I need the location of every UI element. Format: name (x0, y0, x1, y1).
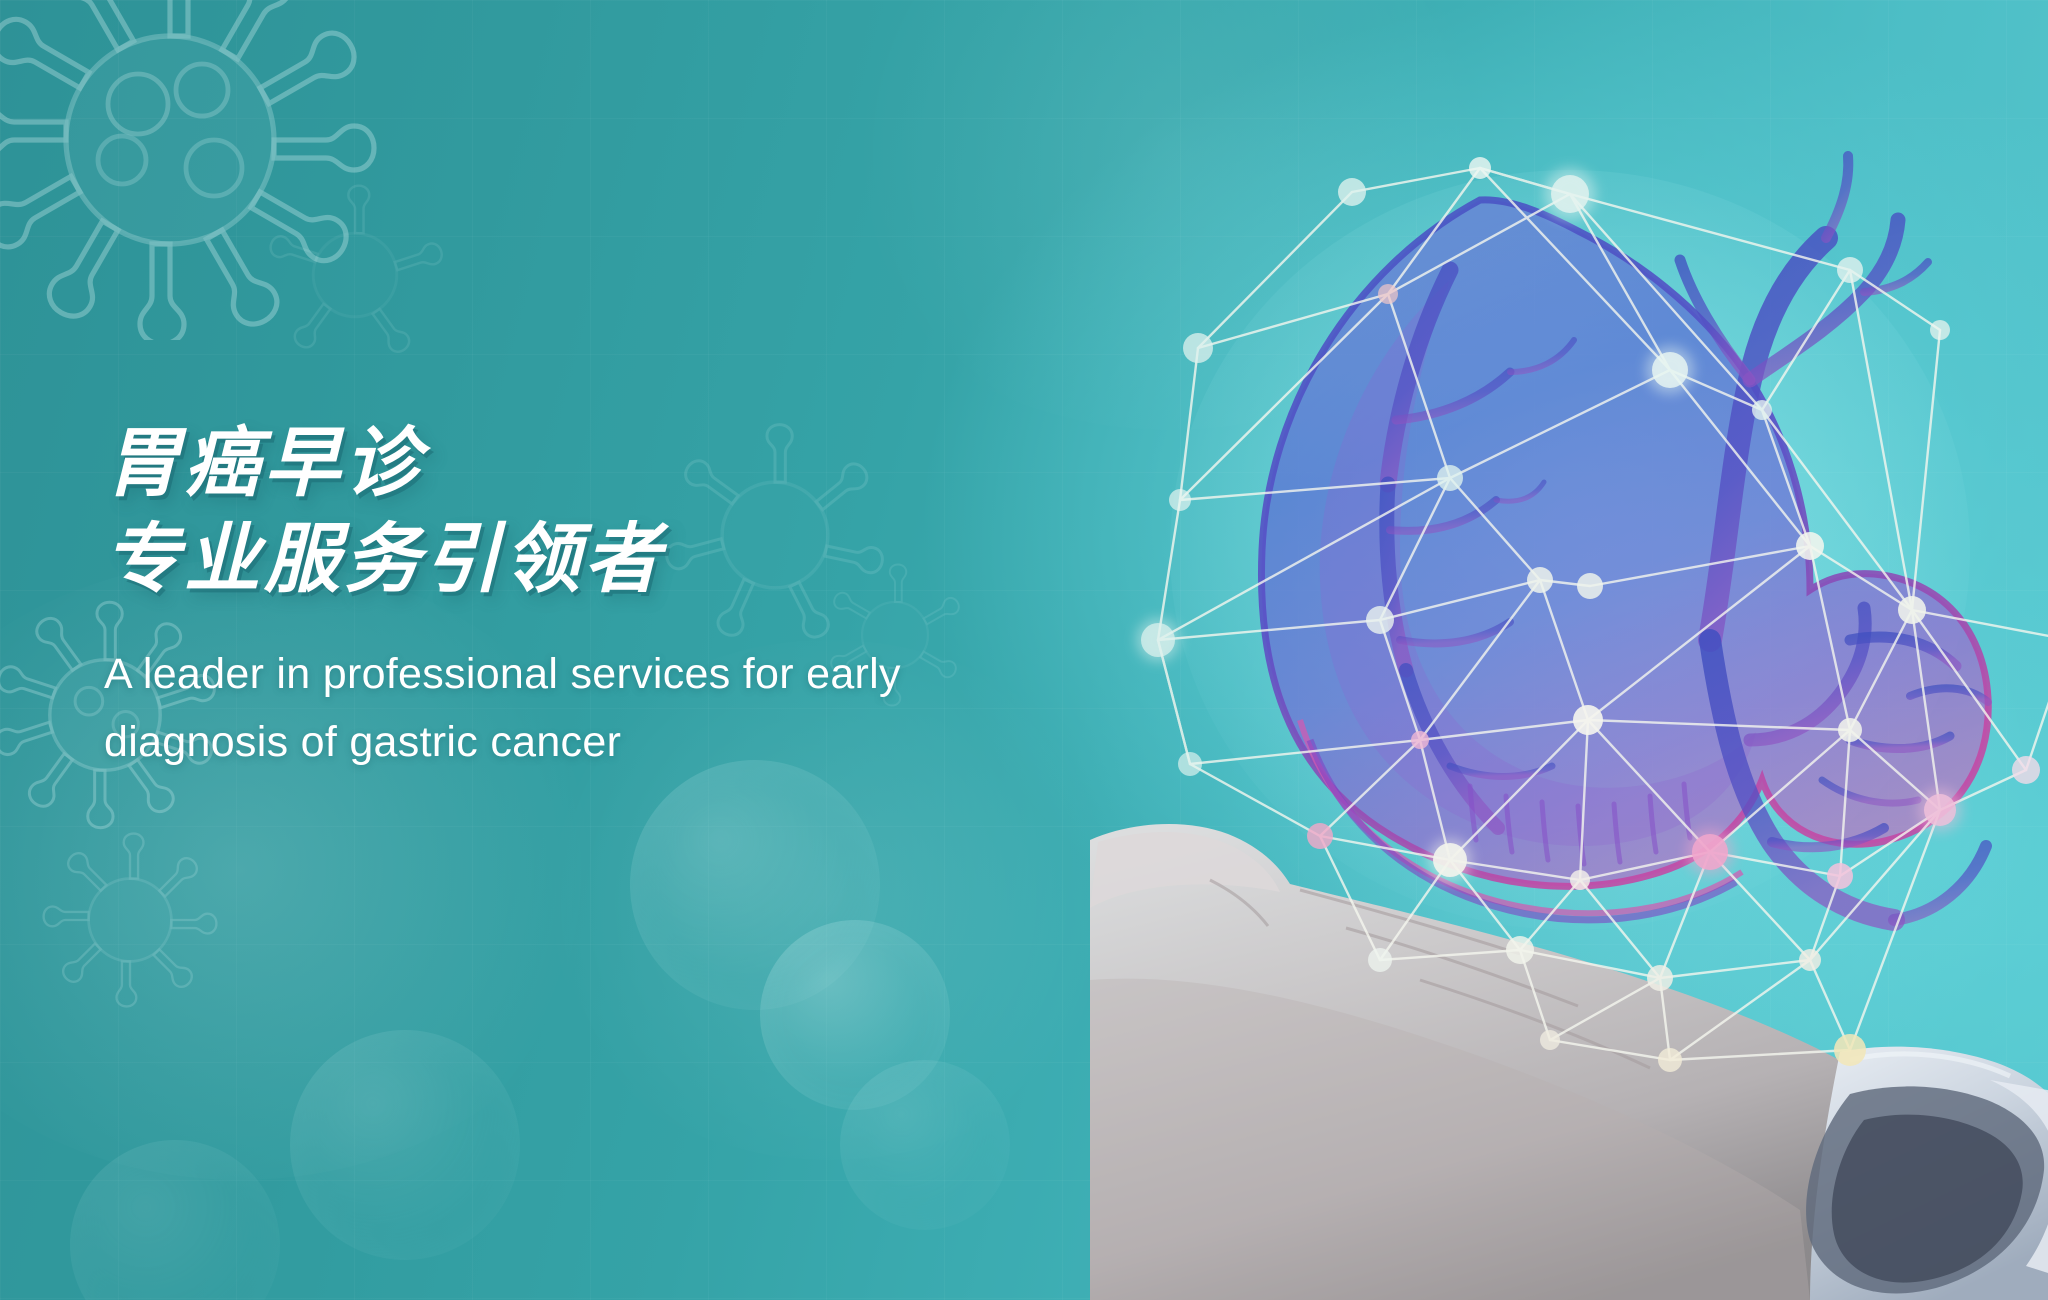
subtitle-block: A leader in professional services for ea… (104, 640, 1134, 776)
subtitle-line-1: A leader in professional services for ea… (104, 640, 1134, 708)
cell-bubble (760, 920, 950, 1110)
stomach-shape (1261, 200, 1988, 886)
virus-particle-icon (260, 180, 450, 370)
light-bloom (820, 0, 1520, 430)
hero-text-block: 胃癌早诊 专业服务引领者 A leader in professional se… (104, 416, 1134, 776)
headline-line-1: 胃癌早诊 (104, 416, 1134, 512)
cell-bubble (630, 760, 880, 1010)
virus-particle-icon (0, 0, 380, 340)
marketing-banner: 胃癌早诊 专业服务引领者 A leader in professional se… (0, 0, 2048, 1300)
cell-bubble (290, 1030, 520, 1260)
network-node (1141, 157, 2048, 1072)
light-bloom (1180, 380, 2048, 1200)
headline-line-2: 专业服务引领者 (104, 512, 1134, 608)
cell-bubble (70, 1140, 280, 1300)
polygon-network-overlay (1136, 157, 2048, 1072)
subtitle-line-2: diagnosis of gastric cancer (104, 708, 1134, 776)
lab-coat-sleeve (1806, 1047, 2048, 1300)
stomach-hologram-illustration (1150, 80, 2048, 1300)
cell-bubble (840, 1060, 1010, 1230)
open-palm-hand (1090, 824, 1942, 1300)
virus-particle-icon (40, 830, 220, 1010)
vessel-network (1387, 156, 1988, 920)
